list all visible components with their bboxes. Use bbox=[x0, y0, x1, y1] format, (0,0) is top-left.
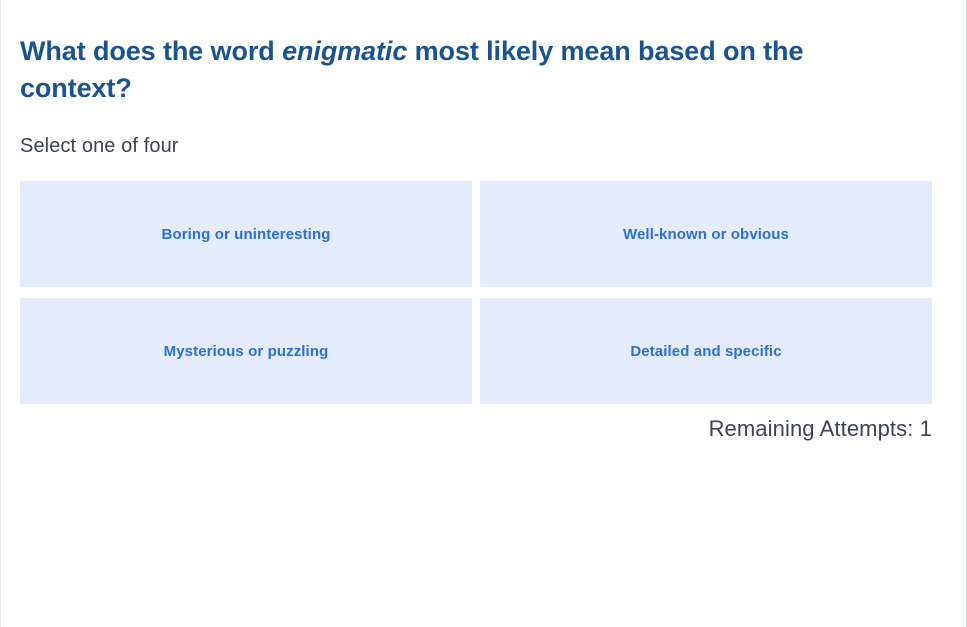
question-emphasized-word: enigmatic bbox=[282, 36, 407, 66]
answer-option-2[interactable]: Well-known or obvious bbox=[480, 181, 932, 287]
selection-instruction: Select one of four bbox=[20, 106, 932, 158]
answer-option-2-label: Well-known or obvious bbox=[623, 226, 789, 243]
answer-option-1-label: Boring or uninteresting bbox=[162, 226, 331, 243]
quiz-content: What does the word enigmatic most likely… bbox=[20, 0, 932, 443]
remaining-attempts-row: Remaining Attempts: 1 bbox=[20, 416, 932, 442]
answer-option-1[interactable]: Boring or uninteresting bbox=[20, 181, 472, 287]
answer-options-grid: Boring or uninteresting Well-known or ob… bbox=[20, 181, 932, 404]
answer-option-3-label: Mysterious or puzzling bbox=[164, 343, 329, 360]
answer-option-4[interactable]: Detailed and specific bbox=[480, 298, 932, 404]
remaining-attempts-label: Remaining Attempts: 1 bbox=[709, 416, 932, 442]
quiz-panel: What does the word enigmatic most likely… bbox=[0, 0, 967, 627]
question-prompt: What does the word enigmatic most likely… bbox=[20, 0, 900, 106]
answer-option-3[interactable]: Mysterious or puzzling bbox=[20, 298, 472, 404]
question-text-before: What does the word bbox=[20, 36, 282, 66]
answer-option-4-label: Detailed and specific bbox=[630, 343, 781, 360]
